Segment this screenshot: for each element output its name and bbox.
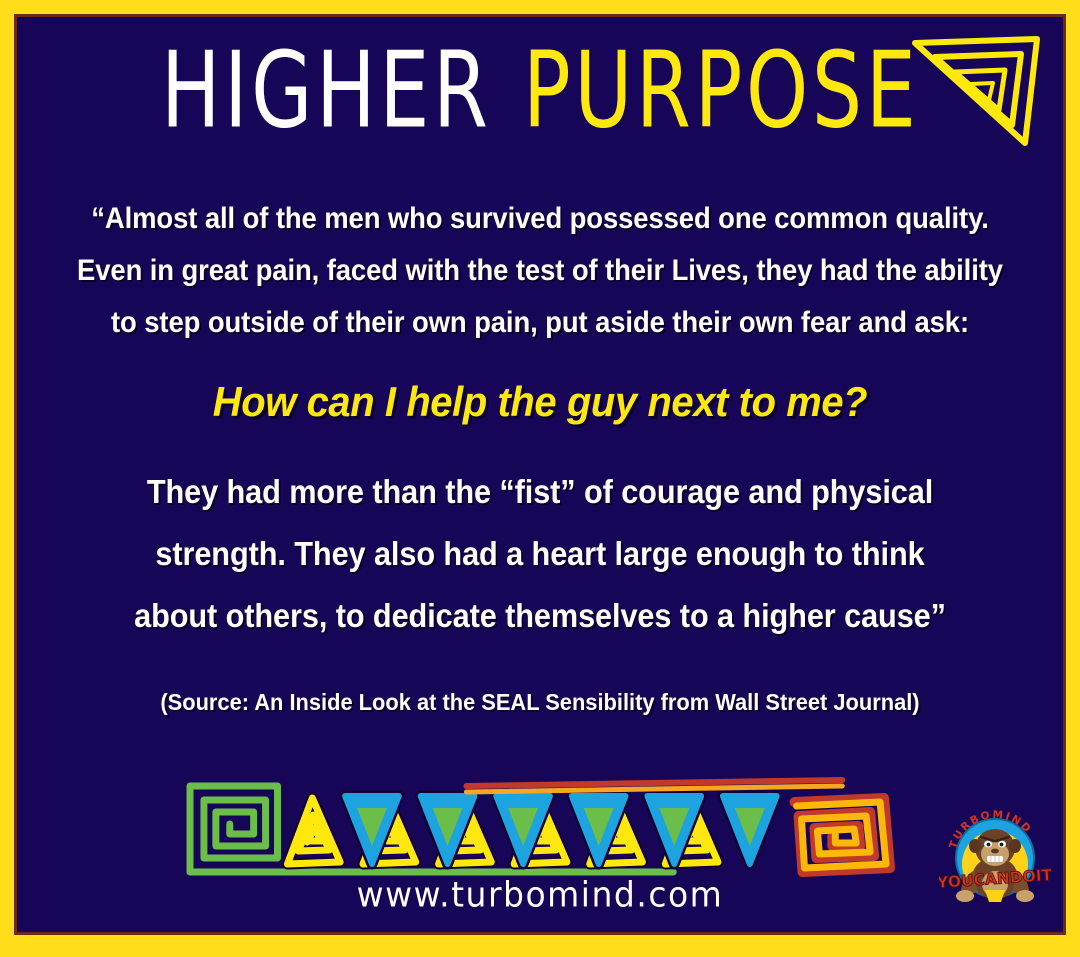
- quote-paragraph-1: “Almost all of the men who survived poss…: [74, 193, 1006, 349]
- poster: HIGHERPURPOSE “Almost all of the men who…: [0, 0, 1080, 957]
- title-word-higher: HIGHER: [161, 30, 492, 152]
- quote-line: to step outside of their own pain, put a…: [74, 297, 1006, 349]
- title-text: HIGHERPURPOSE: [161, 39, 920, 144]
- quote-line: about others, to dedicate themselves to …: [74, 585, 1006, 647]
- triangle-spiral-icon: [905, 31, 1045, 151]
- gorilla-mascot-icon: TURBOMIND YOUCANDOIT: [939, 804, 1051, 914]
- quote-block: “Almost all of the men who survived poss…: [39, 193, 1041, 717]
- website-url[interactable]: www.turbomind.com: [17, 874, 1063, 915]
- quote-line: They had more than the “fist” of courage…: [74, 461, 1006, 523]
- triangle-row: [287, 796, 776, 864]
- quote-line: Even in great pain, faced with the test …: [74, 245, 1006, 297]
- source-attribution: (Source: An Inside Look at the SEAL Sens…: [64, 687, 1016, 717]
- footer: www.turbomind.com: [17, 772, 1063, 932]
- poster-canvas: HIGHERPURPOSE “Almost all of the men who…: [17, 17, 1063, 932]
- title-word-purpose: PURPOSE: [523, 30, 920, 152]
- quote-line: “Almost all of the men who survived poss…: [74, 193, 1006, 245]
- quote-line: strength. They also had a heart large en…: [74, 523, 1006, 585]
- orange-square-spiral-icon: [795, 798, 890, 872]
- highlight-question: How can I help the guy next to me?: [64, 371, 1016, 433]
- canvas-outline: HIGHERPURPOSE “Almost all of the men who…: [14, 14, 1066, 935]
- quote-paragraph-2: They had more than the “fist” of courage…: [74, 461, 1006, 647]
